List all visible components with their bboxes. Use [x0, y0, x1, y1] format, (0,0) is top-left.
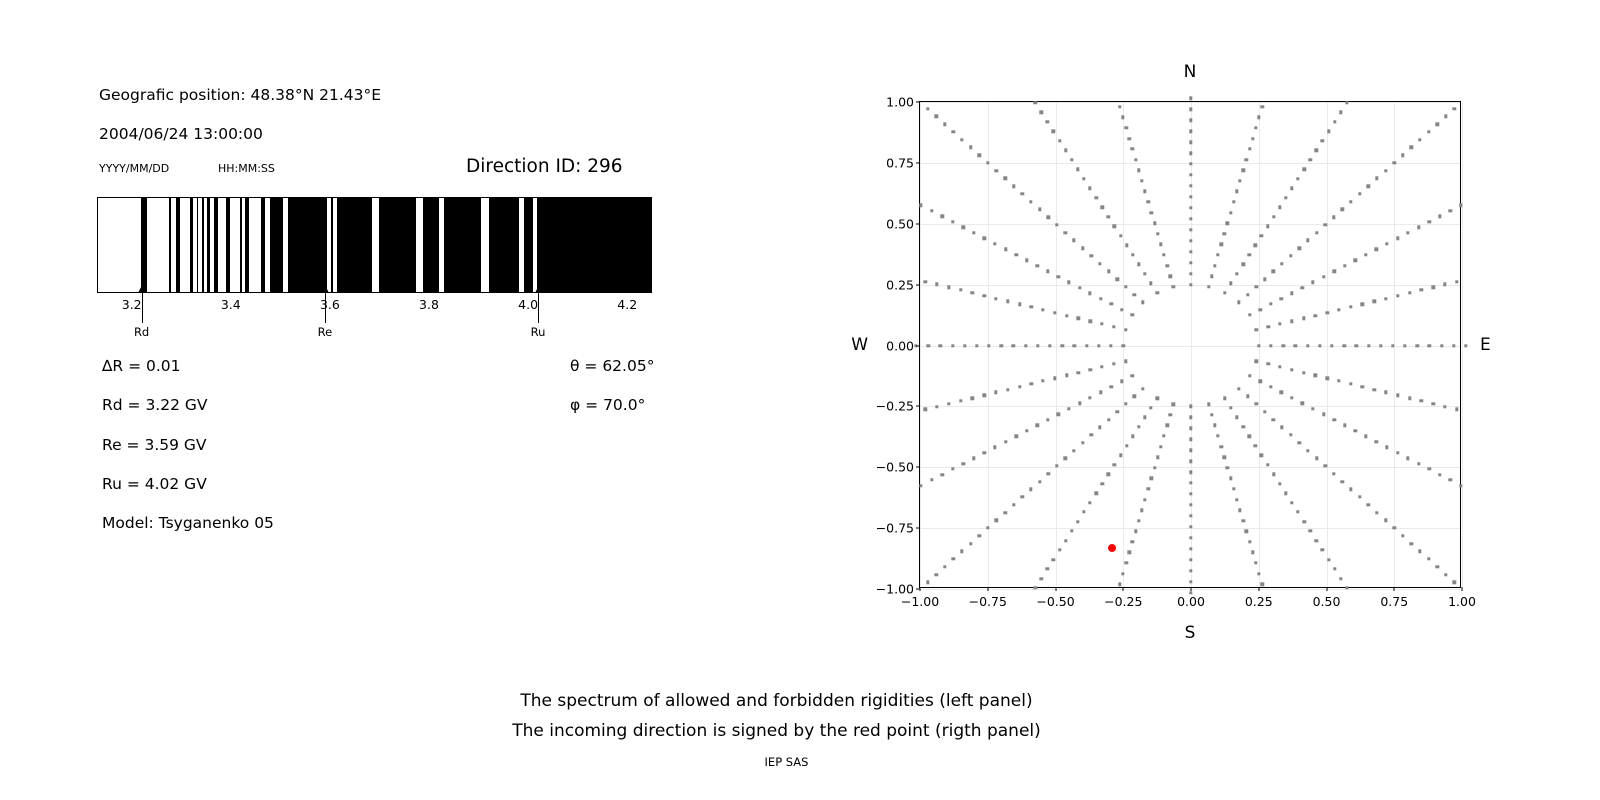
- direction-dot: [1306, 344, 1309, 347]
- direction-dot: [1223, 291, 1226, 294]
- direction-dot: [1047, 472, 1050, 475]
- direction-dot: [962, 462, 965, 465]
- direction-dot: [1294, 344, 1297, 347]
- caption-line-2: The incoming direction is signed by the …: [0, 716, 1553, 746]
- polar-ytick-label: −0.25: [876, 399, 914, 414]
- direction-dot: [1162, 253, 1165, 256]
- direction-dot: [1085, 344, 1088, 347]
- direction-dot: [1459, 204, 1462, 207]
- direction-dot: [1337, 379, 1340, 382]
- direction-dot: [1367, 185, 1370, 188]
- direction-dot: [1052, 130, 1055, 133]
- direction-dot: [1038, 208, 1041, 211]
- direction-dot: [1094, 196, 1097, 199]
- direction-dot: [1242, 519, 1245, 522]
- direction-dot: [1012, 344, 1015, 347]
- direction-dot: [1396, 451, 1399, 454]
- direction-dot: [1112, 362, 1115, 365]
- direction-dot: [1267, 325, 1270, 328]
- direction-dot: [941, 215, 944, 218]
- direction-dot: [1159, 243, 1162, 246]
- direction-dot: [951, 220, 954, 223]
- direction-dot: [1081, 441, 1084, 444]
- direction-dot: [1137, 263, 1140, 266]
- direction-dot: [983, 237, 986, 240]
- direction-dot: [1067, 407, 1070, 410]
- direction-dot: [1436, 123, 1439, 126]
- direction-dot: [1046, 120, 1049, 123]
- direction-dot: [1392, 526, 1395, 529]
- direction-dot: [993, 445, 996, 448]
- direction-dot: [1302, 520, 1305, 523]
- direction-dot: [1280, 391, 1283, 394]
- direction-dot: [1259, 380, 1262, 383]
- direction-dot: [960, 138, 963, 141]
- direction-dot: [1314, 314, 1317, 317]
- direction-dot: [1189, 492, 1192, 495]
- direction-dot: [1339, 111, 1342, 114]
- direction-dot: [1006, 388, 1009, 391]
- polar-ytick-label: 1.00: [886, 95, 914, 110]
- direction-dot: [1325, 311, 1328, 314]
- direction-dot: [1213, 424, 1216, 427]
- direction-dot: [1315, 457, 1318, 460]
- direction-dot: [1124, 328, 1127, 331]
- direction-dot: [1156, 456, 1159, 459]
- direction-id-label: Direction ID: 296: [466, 156, 623, 177]
- geographic-position-text: Geografic position: 48.38°N 21.43°E: [99, 86, 381, 104]
- direction-dot: [1229, 406, 1232, 409]
- direction-dot: [1272, 270, 1275, 273]
- direction-dot: [1251, 551, 1254, 554]
- forbidden-band: [337, 198, 373, 292]
- direction-dot: [1025, 429, 1028, 432]
- direction-dot: [1453, 107, 1456, 110]
- direction-dot: [1345, 101, 1348, 104]
- gridline-vertical: [920, 102, 921, 587]
- direction-dot: [1229, 282, 1232, 285]
- direction-dot: [959, 399, 962, 402]
- direction-dot: [1216, 253, 1219, 256]
- direction-dot: [1323, 223, 1326, 226]
- forbidden-band: [379, 198, 416, 292]
- spectrum-xtick-label: 3.6: [320, 297, 340, 312]
- direction-dot: [1375, 440, 1378, 443]
- direction-dot: [1219, 243, 1222, 246]
- date-format-hint: YYYY/MM/DD: [99, 162, 169, 175]
- direction-dot: [1443, 405, 1446, 408]
- forbidden-band: [270, 198, 283, 292]
- direction-dot: [1078, 286, 1081, 289]
- direction-dot: [1053, 311, 1056, 314]
- direction-dot: [1057, 275, 1060, 278]
- direction-dot: [1327, 130, 1330, 133]
- direction-dot: [1057, 413, 1060, 416]
- direction-dot: [1012, 185, 1015, 188]
- direction-dot: [1290, 187, 1293, 190]
- polar-xtick-mark: [1123, 587, 1124, 591]
- param-phi: φ = 70.0°: [570, 396, 645, 414]
- direction-dot: [1278, 206, 1281, 209]
- direction-dot: [1237, 387, 1240, 390]
- forbidden-band: [423, 198, 439, 292]
- direction-dot: [1223, 232, 1226, 235]
- direction-dot: [1296, 510, 1299, 513]
- gridline-vertical: [1056, 102, 1057, 587]
- polar-ytick-label: 0.50: [886, 216, 914, 231]
- forbidden-band: [141, 198, 147, 292]
- direction-dot: [1070, 158, 1073, 161]
- polar-ytick-mark: [916, 162, 920, 163]
- direction-dot: [1401, 534, 1404, 537]
- forbidden-band: [176, 198, 180, 292]
- direction-dot: [1207, 285, 1210, 288]
- direction-dot: [1099, 391, 1102, 394]
- direction-dot: [1272, 472, 1275, 475]
- direction-dot: [1140, 508, 1143, 511]
- spectrum-xtick-label: 3.4: [221, 297, 241, 312]
- forbidden-band: [214, 198, 218, 292]
- direction-dot: [1116, 410, 1119, 413]
- direction-dot: [1345, 586, 1348, 589]
- param-ru: Ru = 4.02 GV: [102, 475, 207, 493]
- direction-dot: [1112, 325, 1115, 328]
- spectrum-xtick-label: 4.2: [617, 297, 637, 312]
- direction-dot: [1048, 344, 1051, 347]
- direction-dot: [1311, 280, 1314, 283]
- direction-dot: [1367, 503, 1370, 506]
- institution-credit: IEP SAS: [0, 755, 1573, 769]
- direction-dot: [1078, 402, 1081, 405]
- direction-dot: [1255, 328, 1258, 331]
- spectrum-bar: [97, 197, 652, 293]
- direction-dot: [1134, 158, 1137, 161]
- forbidden-band: [288, 198, 327, 292]
- forbidden-band: [207, 198, 210, 292]
- figure-caption: The spectrum of allowed and forbidden ri…: [0, 686, 1553, 746]
- direction-dot: [1137, 425, 1140, 428]
- direction-dot: [1455, 280, 1458, 283]
- direction-dot: [978, 534, 981, 537]
- direction-dot: [1014, 435, 1017, 438]
- direction-dot: [1278, 482, 1281, 485]
- direction-dot: [1018, 303, 1021, 306]
- direction-dot: [1121, 572, 1124, 575]
- direction-dot: [1189, 459, 1192, 462]
- direction-dot: [1428, 344, 1431, 347]
- direction-dot: [1064, 231, 1067, 234]
- direction-dot: [935, 405, 938, 408]
- direction-dot: [1155, 291, 1158, 294]
- direction-dot: [1088, 187, 1091, 190]
- forbidden-band: [245, 198, 249, 292]
- direction-dot: [934, 115, 937, 118]
- direction-dot: [1141, 301, 1144, 304]
- direction-dot: [951, 467, 954, 470]
- direction-dot: [1100, 365, 1103, 368]
- param-model: Model: Tsyganenko 05: [102, 514, 274, 532]
- direction-dot: [1006, 300, 1009, 303]
- direction-dot: [1232, 200, 1235, 203]
- polar-xtick-mark: [1326, 587, 1327, 591]
- direction-dot: [1254, 402, 1257, 405]
- direction-dot: [1459, 484, 1462, 487]
- direction-dot: [1315, 231, 1318, 234]
- direction-dot: [1260, 105, 1263, 108]
- direction-dot: [1323, 464, 1326, 467]
- direction-dot: [1416, 344, 1419, 347]
- datetime-text: 2004/06/24 13:00:00: [99, 125, 263, 143]
- direction-dot: [1153, 221, 1156, 224]
- direction-dot: [1089, 320, 1092, 323]
- direction-dot: [1223, 397, 1226, 400]
- direction-dot: [1124, 561, 1127, 564]
- direction-dot: [1118, 105, 1121, 108]
- direction-dot: [1449, 209, 1452, 212]
- direction-dot: [1373, 300, 1376, 303]
- marker-arrow-rd: [142, 285, 143, 323]
- direction-dot: [1094, 491, 1097, 494]
- direction-dot: [1332, 472, 1335, 475]
- direction-dot: [1263, 410, 1266, 413]
- direction-dot: [1124, 360, 1127, 363]
- direction-dot: [1254, 126, 1257, 129]
- forbidden-band: [202, 198, 204, 292]
- time-format-hint: HH:MM:SS: [218, 162, 275, 175]
- direction-dot: [1367, 344, 1370, 347]
- direction-dot: [972, 456, 975, 459]
- direction-dot: [1140, 179, 1143, 182]
- direction-dot: [1342, 344, 1345, 347]
- forbidden-band: [261, 198, 265, 292]
- direction-dot: [1052, 558, 1055, 561]
- direction-dot: [1119, 453, 1122, 456]
- direction-dot: [926, 344, 929, 347]
- direction-dot: [1189, 173, 1192, 176]
- direction-dot: [1088, 291, 1091, 294]
- direction-dot: [1428, 220, 1431, 223]
- direction-dot: [952, 557, 955, 560]
- direction-dot: [1272, 418, 1275, 421]
- direction-dot: [1361, 385, 1364, 388]
- direction-dot: [1339, 577, 1342, 580]
- direction-dot: [1420, 288, 1423, 291]
- direction-dot: [1321, 548, 1324, 551]
- direction-dot: [1189, 438, 1192, 441]
- polar-xtick-label: −0.50: [1036, 594, 1074, 609]
- direction-dot: [1107, 215, 1110, 218]
- direction-dot: [1065, 374, 1068, 377]
- direction-dot: [1046, 567, 1049, 570]
- polar-ytick-label: −0.75: [876, 521, 914, 536]
- direction-dot: [1153, 466, 1156, 469]
- direction-dot: [1107, 270, 1110, 273]
- direction-dot: [1354, 429, 1357, 432]
- direction-dot: [1189, 481, 1192, 484]
- gridline-horizontal: [920, 102, 1460, 103]
- direction-dot: [1143, 272, 1146, 275]
- direction-dot: [1097, 344, 1100, 347]
- direction-dot: [919, 484, 922, 487]
- param-re: Re = 3.59 GV: [102, 436, 207, 454]
- direction-dot: [1064, 539, 1067, 542]
- direction-dot: [1219, 445, 1222, 448]
- polar-xtick-mark: [920, 587, 921, 591]
- direction-dot: [1375, 511, 1378, 514]
- direction-dot: [1248, 374, 1251, 377]
- selected-direction-marker: [1108, 544, 1116, 552]
- direction-dot: [1327, 558, 1330, 561]
- direction-dot: [934, 573, 937, 576]
- direction-dot: [1392, 161, 1395, 164]
- direction-dot: [1089, 368, 1092, 371]
- gridline-horizontal: [920, 224, 1460, 225]
- direction-dot: [1021, 495, 1024, 498]
- spectrum-xtick-label: 3.8: [419, 297, 439, 312]
- direction-dot: [1248, 434, 1251, 437]
- direction-dot: [1107, 472, 1110, 475]
- direction-dot: [1384, 297, 1387, 300]
- direction-dot: [1302, 168, 1305, 171]
- direction-dot: [1047, 216, 1050, 219]
- direction-dot: [1257, 344, 1260, 347]
- direction-dot: [1162, 434, 1165, 437]
- direction-dot: [963, 344, 966, 347]
- direction-dot: [1067, 280, 1070, 283]
- direction-dot: [1341, 480, 1344, 483]
- direction-dot: [1030, 305, 1033, 308]
- direction-dot: [1189, 427, 1192, 430]
- polar-ytick-label: −0.50: [876, 460, 914, 475]
- direction-dot: [1165, 264, 1168, 267]
- direction-dot: [1406, 231, 1409, 234]
- direction-dot: [1254, 285, 1257, 288]
- rigidity-spectrum-chart: [97, 197, 652, 293]
- direction-dot: [1124, 285, 1127, 288]
- direction-dot: [1290, 320, 1293, 323]
- direction-dot: [1156, 232, 1159, 235]
- direction-dot: [1133, 293, 1136, 296]
- direction-dot: [1090, 254, 1093, 257]
- marker-label-ru: Ru: [531, 325, 546, 339]
- direction-dot: [1237, 301, 1240, 304]
- polar-xtick-label: 0.75: [1380, 594, 1408, 609]
- direction-dot: [943, 565, 946, 568]
- direction-dot: [1036, 264, 1039, 267]
- direction-dot: [972, 231, 975, 234]
- forbidden-band: [240, 198, 242, 292]
- direction-dot: [1410, 146, 1413, 149]
- direction-dot: [1189, 272, 1192, 275]
- direction-dot: [1189, 250, 1192, 253]
- direction-dot: [1241, 263, 1244, 266]
- direction-dot: [1306, 449, 1309, 452]
- direction-dot: [1440, 344, 1443, 347]
- direction-dot: [1072, 449, 1075, 452]
- direction-dot: [1260, 583, 1263, 586]
- direction-dot: [1131, 374, 1134, 377]
- direction-dot: [1036, 344, 1039, 347]
- direction-dot: [1257, 116, 1260, 119]
- direction-dot: [935, 283, 938, 286]
- direction-dot: [1229, 477, 1232, 480]
- polar-ytick-mark: [916, 223, 920, 224]
- direction-dot: [983, 394, 986, 397]
- direction-dot: [1408, 396, 1411, 399]
- direction-dot: [1245, 530, 1248, 533]
- direction-dot: [1333, 567, 1336, 570]
- direction-dot: [1281, 344, 1284, 347]
- polar-xtick-label: 0.50: [1313, 594, 1341, 609]
- direction-dot: [1298, 441, 1301, 444]
- direction-dot: [1155, 397, 1158, 400]
- direction-dot: [1053, 377, 1056, 380]
- direction-dot: [1364, 435, 1367, 438]
- direction-dot: [1041, 379, 1044, 382]
- direction-dot: [1024, 344, 1027, 347]
- direction-dot: [1266, 225, 1269, 228]
- direction-dot: [1055, 464, 1058, 467]
- direction-dot: [1337, 308, 1340, 311]
- direction-dot: [1189, 283, 1192, 286]
- param-theta: θ = 62.05°: [570, 357, 654, 375]
- polar-xtick-mark: [1055, 587, 1056, 591]
- direction-dot: [1254, 444, 1257, 447]
- direction-dot: [1131, 434, 1134, 437]
- direction-dot: [926, 107, 929, 110]
- direction-dot: [1290, 368, 1293, 371]
- direction-dot: [1189, 261, 1192, 264]
- direction-dot: [1396, 237, 1399, 240]
- direction-dot: [1289, 254, 1292, 257]
- direction-dot: [1143, 415, 1146, 418]
- polar-xtick-mark: [1394, 587, 1395, 591]
- direction-dot: [1149, 406, 1152, 409]
- direction-dot: [1278, 322, 1281, 325]
- direction-dot: [1254, 244, 1257, 247]
- direction-dot: [1420, 399, 1423, 402]
- direction-dot: [1396, 394, 1399, 397]
- direction-dot: [1301, 402, 1304, 405]
- direction-dot: [1137, 169, 1140, 172]
- direction-dot: [1242, 169, 1245, 172]
- polar-xtick-label: −0.75: [969, 594, 1007, 609]
- direction-dot: [1033, 586, 1036, 589]
- direction-dot: [1443, 283, 1446, 286]
- direction-dot: [1401, 154, 1404, 157]
- direction-dot: [1189, 470, 1192, 473]
- direction-dot: [1143, 190, 1146, 193]
- forbidden-band: [524, 198, 533, 292]
- direction-dot: [1004, 248, 1007, 251]
- direction-dot: [1280, 426, 1283, 429]
- direction-dot: [1113, 225, 1116, 228]
- direction-dot: [1189, 558, 1192, 561]
- direction-dot: [1379, 344, 1382, 347]
- direction-dot: [1431, 286, 1434, 289]
- direction-dot: [1431, 402, 1434, 405]
- direction-dot: [1322, 275, 1325, 278]
- rigidity-spectrum-panel: Geografic position: 48.38°N 21.43°E 2004…: [0, 0, 760, 800]
- direction-dot: [1119, 234, 1122, 237]
- direction-dot: [1189, 119, 1192, 122]
- direction-dot: [1172, 285, 1175, 288]
- marker-arrow-ru: [538, 285, 539, 323]
- direction-dot: [995, 169, 998, 172]
- direction-dot: [1169, 413, 1172, 416]
- direction-dot: [1076, 168, 1079, 171]
- direction-dot: [1125, 444, 1128, 447]
